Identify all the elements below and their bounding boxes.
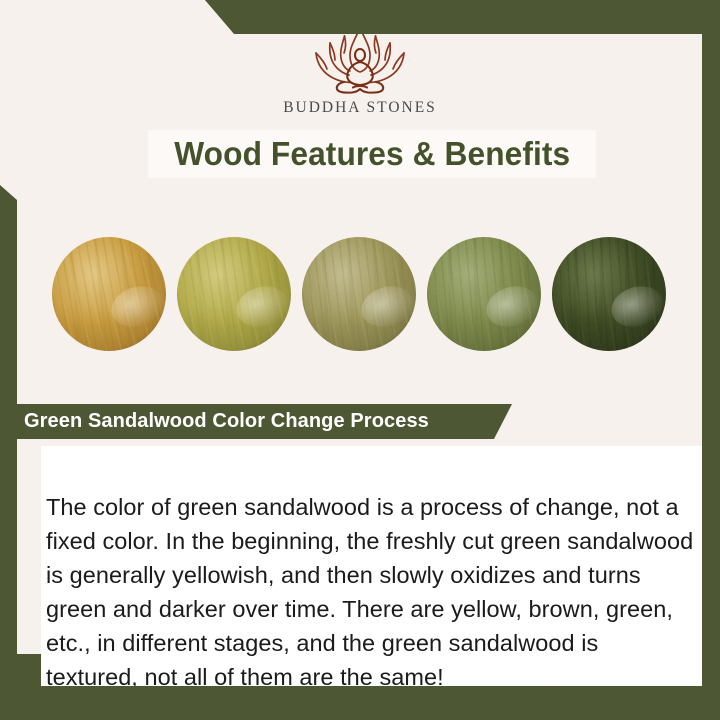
bead-gallery: [16, 196, 702, 392]
frame-band-top: [205, 0, 720, 34]
bead-stage-4: [427, 237, 541, 351]
poster-root: BUDDHA STONES Wood Features & Benefits: [0, 0, 720, 720]
page-title-plate: Wood Features & Benefits: [148, 130, 596, 178]
bead-grain-texture: [302, 237, 416, 351]
bead-grain-texture: [427, 237, 541, 351]
bead-stage-3: [302, 237, 416, 351]
page-title: Wood Features & Benefits: [174, 135, 570, 173]
frame-band-left: [0, 185, 17, 720]
bead-grain-texture: [552, 237, 666, 351]
body-paragraph: The color of green sandalwood is a proce…: [46, 490, 696, 694]
bead-stage-5: [552, 237, 666, 351]
bead-stage-2: [177, 237, 291, 351]
frame-band-right: [702, 0, 720, 550]
frame-band-bottom: [0, 686, 545, 720]
bead-grain-texture: [52, 237, 166, 351]
section-banner: Green Sandalwood Color Change Process: [0, 404, 512, 439]
body-panel: The color of green sandalwood is a proce…: [41, 446, 702, 686]
bead-grain-texture: [177, 237, 291, 351]
section-label: Green Sandalwood Color Change Process: [24, 410, 429, 433]
bead-stage-1: [52, 237, 166, 351]
